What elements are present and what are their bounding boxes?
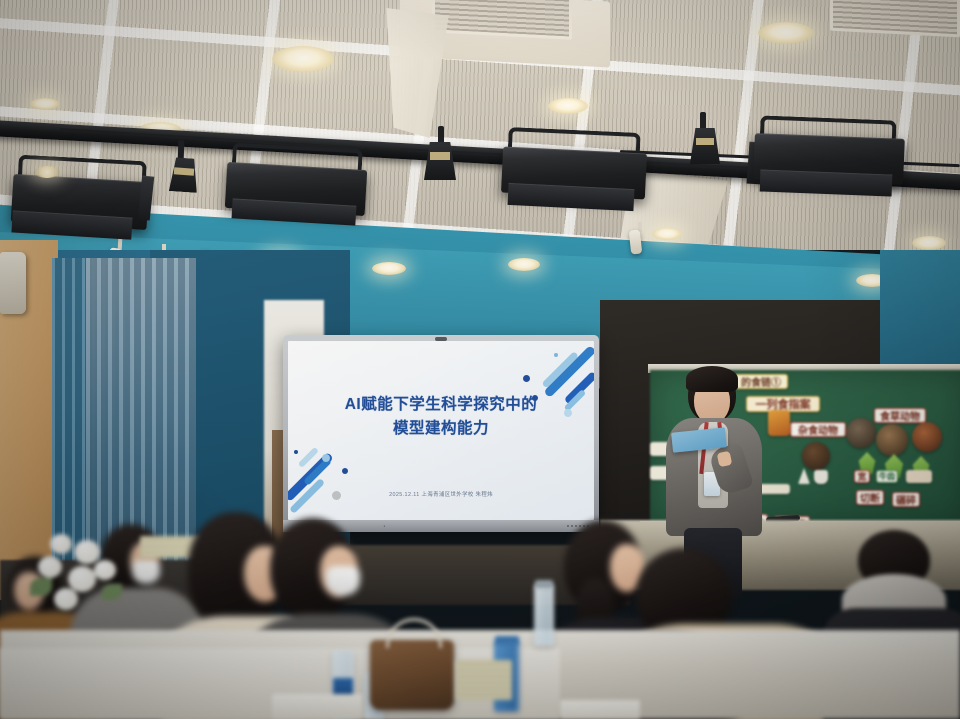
downlight [372, 262, 406, 275]
storage-basket [456, 660, 512, 700]
slide-deco-dot [294, 450, 298, 454]
notebook [272, 694, 362, 719]
par-can-band [696, 138, 714, 145]
face-mask [132, 560, 160, 584]
papers [560, 700, 640, 719]
water-bottle [534, 584, 554, 646]
slide-title: AI赋能下学生科学探究中的 模型建构能力 [288, 393, 594, 441]
slide-title-line1: AI赋能下学生科学探究中的 [288, 393, 594, 417]
slide-subtitle: 2025.12.11 上海青浦区世外学校 朱程炜 [288, 490, 594, 498]
slide-title-line2: 模型建构能力 [288, 417, 594, 441]
chalkboard-term-cut: 切断 [856, 490, 884, 505]
flower [68, 566, 96, 592]
downlight [508, 258, 540, 271]
animal-photo [846, 418, 876, 448]
slide-deco-dot [554, 353, 558, 357]
slide-deco-dot [322, 454, 330, 462]
animal-photo [876, 424, 908, 456]
chalkboard-group-omnivore: 杂食动物 [790, 422, 846, 437]
slide-deco-dot [523, 375, 530, 382]
tooth-cutout [814, 470, 828, 484]
chalkboard-group-herbivore: 食草动物 [874, 408, 926, 423]
slide-deco-dot [342, 468, 348, 474]
chalkboard-term-blank [906, 470, 932, 483]
animal-photo [802, 442, 830, 470]
downlight [652, 228, 682, 240]
flower [50, 534, 72, 554]
flower-arrangement [24, 530, 134, 620]
classroom-presentation-photo: 的食链① 一列食指案 杂食动物 食草动物 宽 牛齿 切断 碾碎 穿 构导 动能 … [0, 0, 960, 719]
wall-blue-right [880, 250, 960, 370]
downlight [548, 98, 588, 114]
track-spot [629, 229, 642, 254]
board-screen[interactable]: AI赋能下学生科学探究中的 模型建构能力 2025.12.11 上海青浦区世外学… [288, 341, 594, 520]
animal-photo [912, 422, 942, 452]
flower [74, 540, 100, 564]
wall-speaker [0, 252, 26, 314]
tooth-cutout [798, 468, 810, 484]
flower [94, 560, 116, 580]
flower [38, 556, 62, 578]
downlight [272, 46, 334, 72]
downlight [758, 22, 814, 44]
chalkboard-term: 牛齿 [876, 470, 898, 483]
foliage [102, 584, 122, 600]
smart-board-display[interactable]: AI赋能下学生科学探究中的 模型建构能力 2025.12.11 上海青浦区世外学… [283, 335, 599, 532]
downlight [912, 236, 946, 250]
par-can-band [174, 167, 194, 175]
chalkboard-card [768, 410, 790, 436]
light-lens-glow [34, 166, 60, 178]
foliage [30, 578, 52, 596]
handbag [370, 640, 454, 710]
presenter-hair-top [686, 366, 738, 392]
thermos-cap [495, 636, 519, 645]
downlight [30, 98, 60, 110]
chalkboard-term: 宽 [854, 470, 870, 483]
chalkboard-term-grind: 碾碎 [892, 492, 920, 507]
bottle-cap [535, 580, 553, 588]
face-mask [326, 566, 360, 596]
flower [54, 588, 78, 610]
slide-deco-stripe [543, 345, 594, 398]
par-can-band [430, 152, 450, 160]
